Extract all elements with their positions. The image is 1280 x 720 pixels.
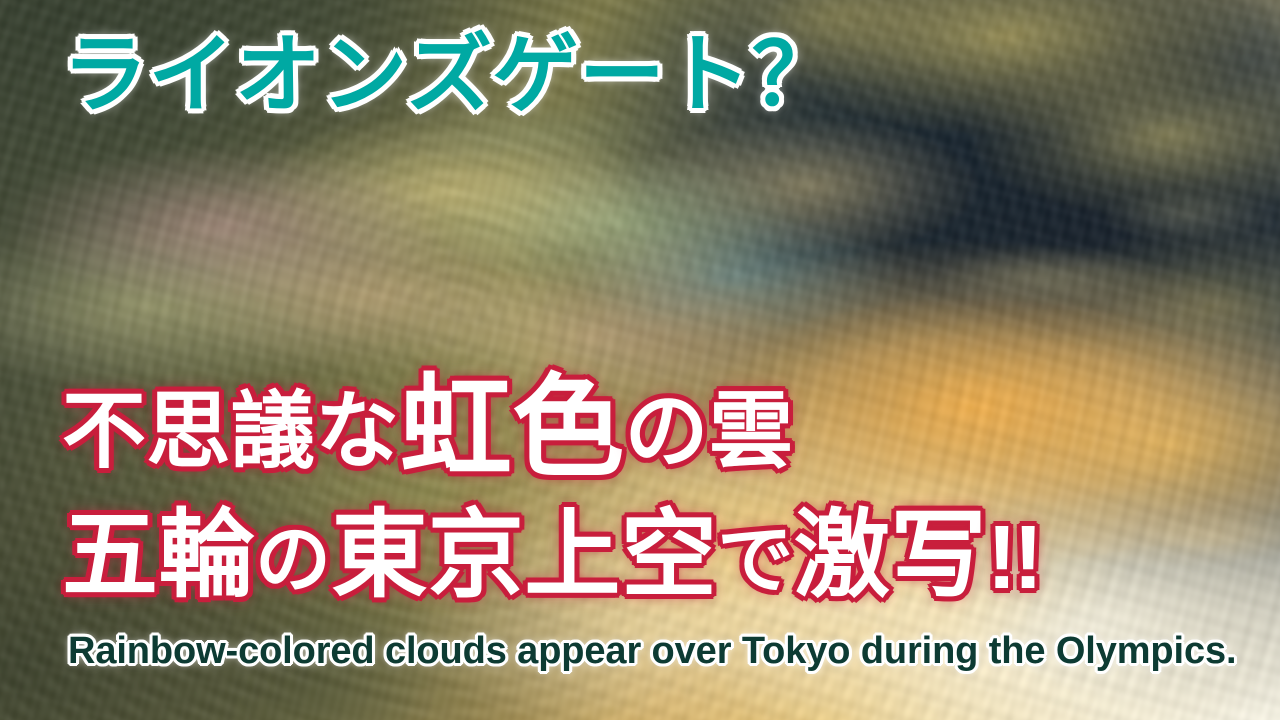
subtitle-english: Rainbow-colored clouds appear over Tokyo…	[68, 632, 1236, 670]
headline-lower-part5: 激写	[794, 502, 987, 609]
headline-lower: 五輪の東京上空で激写!!	[62, 508, 1040, 604]
headline-lower-exclamation: !!	[987, 508, 1040, 608]
headline-middle-tail: の雲	[625, 384, 794, 478]
headline-top: ライオンズゲート？	[62, 32, 838, 118]
headline-middle-emphasis: 虹色	[400, 365, 625, 490]
thumbnail-canvas: ライオンズゲート？ 不思議な虹色の雲 五輪の東京上空で激写!! Rainbow-…	[0, 0, 1280, 720]
headline-middle: 不思議な虹色の雲	[62, 372, 793, 484]
headline-lower-part3: 東京上空	[331, 502, 717, 609]
headline-lower-part2: の	[255, 518, 331, 603]
headline-lower-part1: 五輪	[62, 502, 255, 609]
headline-middle-lead: 不思議な	[62, 384, 400, 478]
headline-lower-part4: で	[717, 518, 793, 603]
